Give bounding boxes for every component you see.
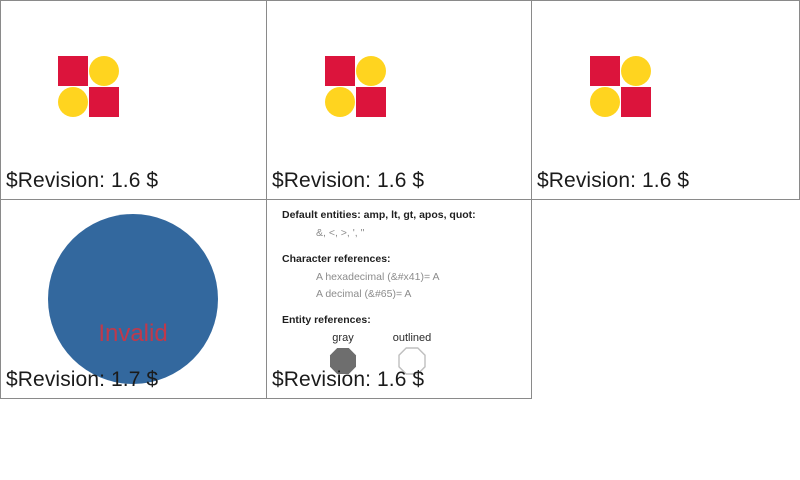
revision-label: $Revision: 1.6 $ (537, 168, 689, 193)
revision-label: $Revision: 1.6 $ (6, 168, 158, 193)
logo-square-red-bottom-right (356, 87, 386, 117)
panel-logo-3: $Revision: 1.6 $ (531, 0, 800, 200)
invalid-circle-graphic: Invalid (48, 214, 218, 384)
invalid-text-label: Invalid (48, 320, 218, 348)
logo-circle-yellow-top-right (356, 56, 386, 86)
revision-label: $Revision: 1.7 $ (6, 367, 158, 392)
logo-circle-yellow-bottom-left (58, 87, 88, 117)
logo-square-red-top-left (58, 56, 88, 86)
checker-logo-svg (590, 56, 652, 118)
logo-square-red-bottom-right (89, 87, 119, 117)
default-entities-values: &, <, >, ', " (282, 226, 525, 241)
spacer (282, 243, 525, 252)
revision-label: $Revision: 1.6 $ (272, 367, 424, 392)
invalid-circle-svg (48, 214, 218, 384)
checker-logo-graphic (325, 56, 387, 118)
character-reference-decimal-line: A decimal (&#65)= A (282, 287, 525, 302)
panel-logo-1: $Revision: 1.6 $ (0, 0, 267, 200)
checker-logo-graphic (58, 56, 120, 118)
checker-logo-svg (325, 56, 387, 118)
character-reference-hex-line: A hexadecimal (&#x41)= A (282, 270, 525, 285)
logo-square-red-bottom-right (621, 87, 651, 117)
checker-logo-svg (58, 56, 120, 118)
entity-references-heading: Entity references: (282, 313, 525, 327)
entity-demo-body: Default entities: amp, lt, gt, apos, quo… (282, 208, 525, 379)
spacer (282, 304, 525, 313)
logo-circle-yellow-top-right (89, 56, 119, 86)
logo-square-red-top-left (590, 56, 620, 86)
panel-logo-2: $Revision: 1.6 $ (266, 0, 532, 200)
character-references-heading: Character references: (282, 252, 525, 266)
entity-sample-gray-label: gray (308, 331, 378, 345)
default-entities-heading: Default entities: amp, lt, gt, apos, quo… (282, 208, 525, 222)
logo-circle-yellow-bottom-left (325, 87, 355, 117)
logo-circle-yellow-top-right (621, 56, 651, 86)
blue-circle-shape (48, 214, 218, 384)
panel-invalid-circle: Invalid $Revision: 1.7 $ (0, 199, 267, 399)
entity-sample-outlined-label: outlined (377, 331, 447, 345)
checker-logo-graphic (590, 56, 652, 118)
panel-grid: $Revision: 1.6 $ $Revision: 1.6 $ $Revis… (0, 0, 800, 400)
logo-circle-yellow-bottom-left (590, 87, 620, 117)
revision-label: $Revision: 1.6 $ (272, 168, 424, 193)
logo-square-red-top-left (325, 56, 355, 86)
panel-entity-references: Default entities: amp, lt, gt, apos, quo… (266, 199, 532, 399)
